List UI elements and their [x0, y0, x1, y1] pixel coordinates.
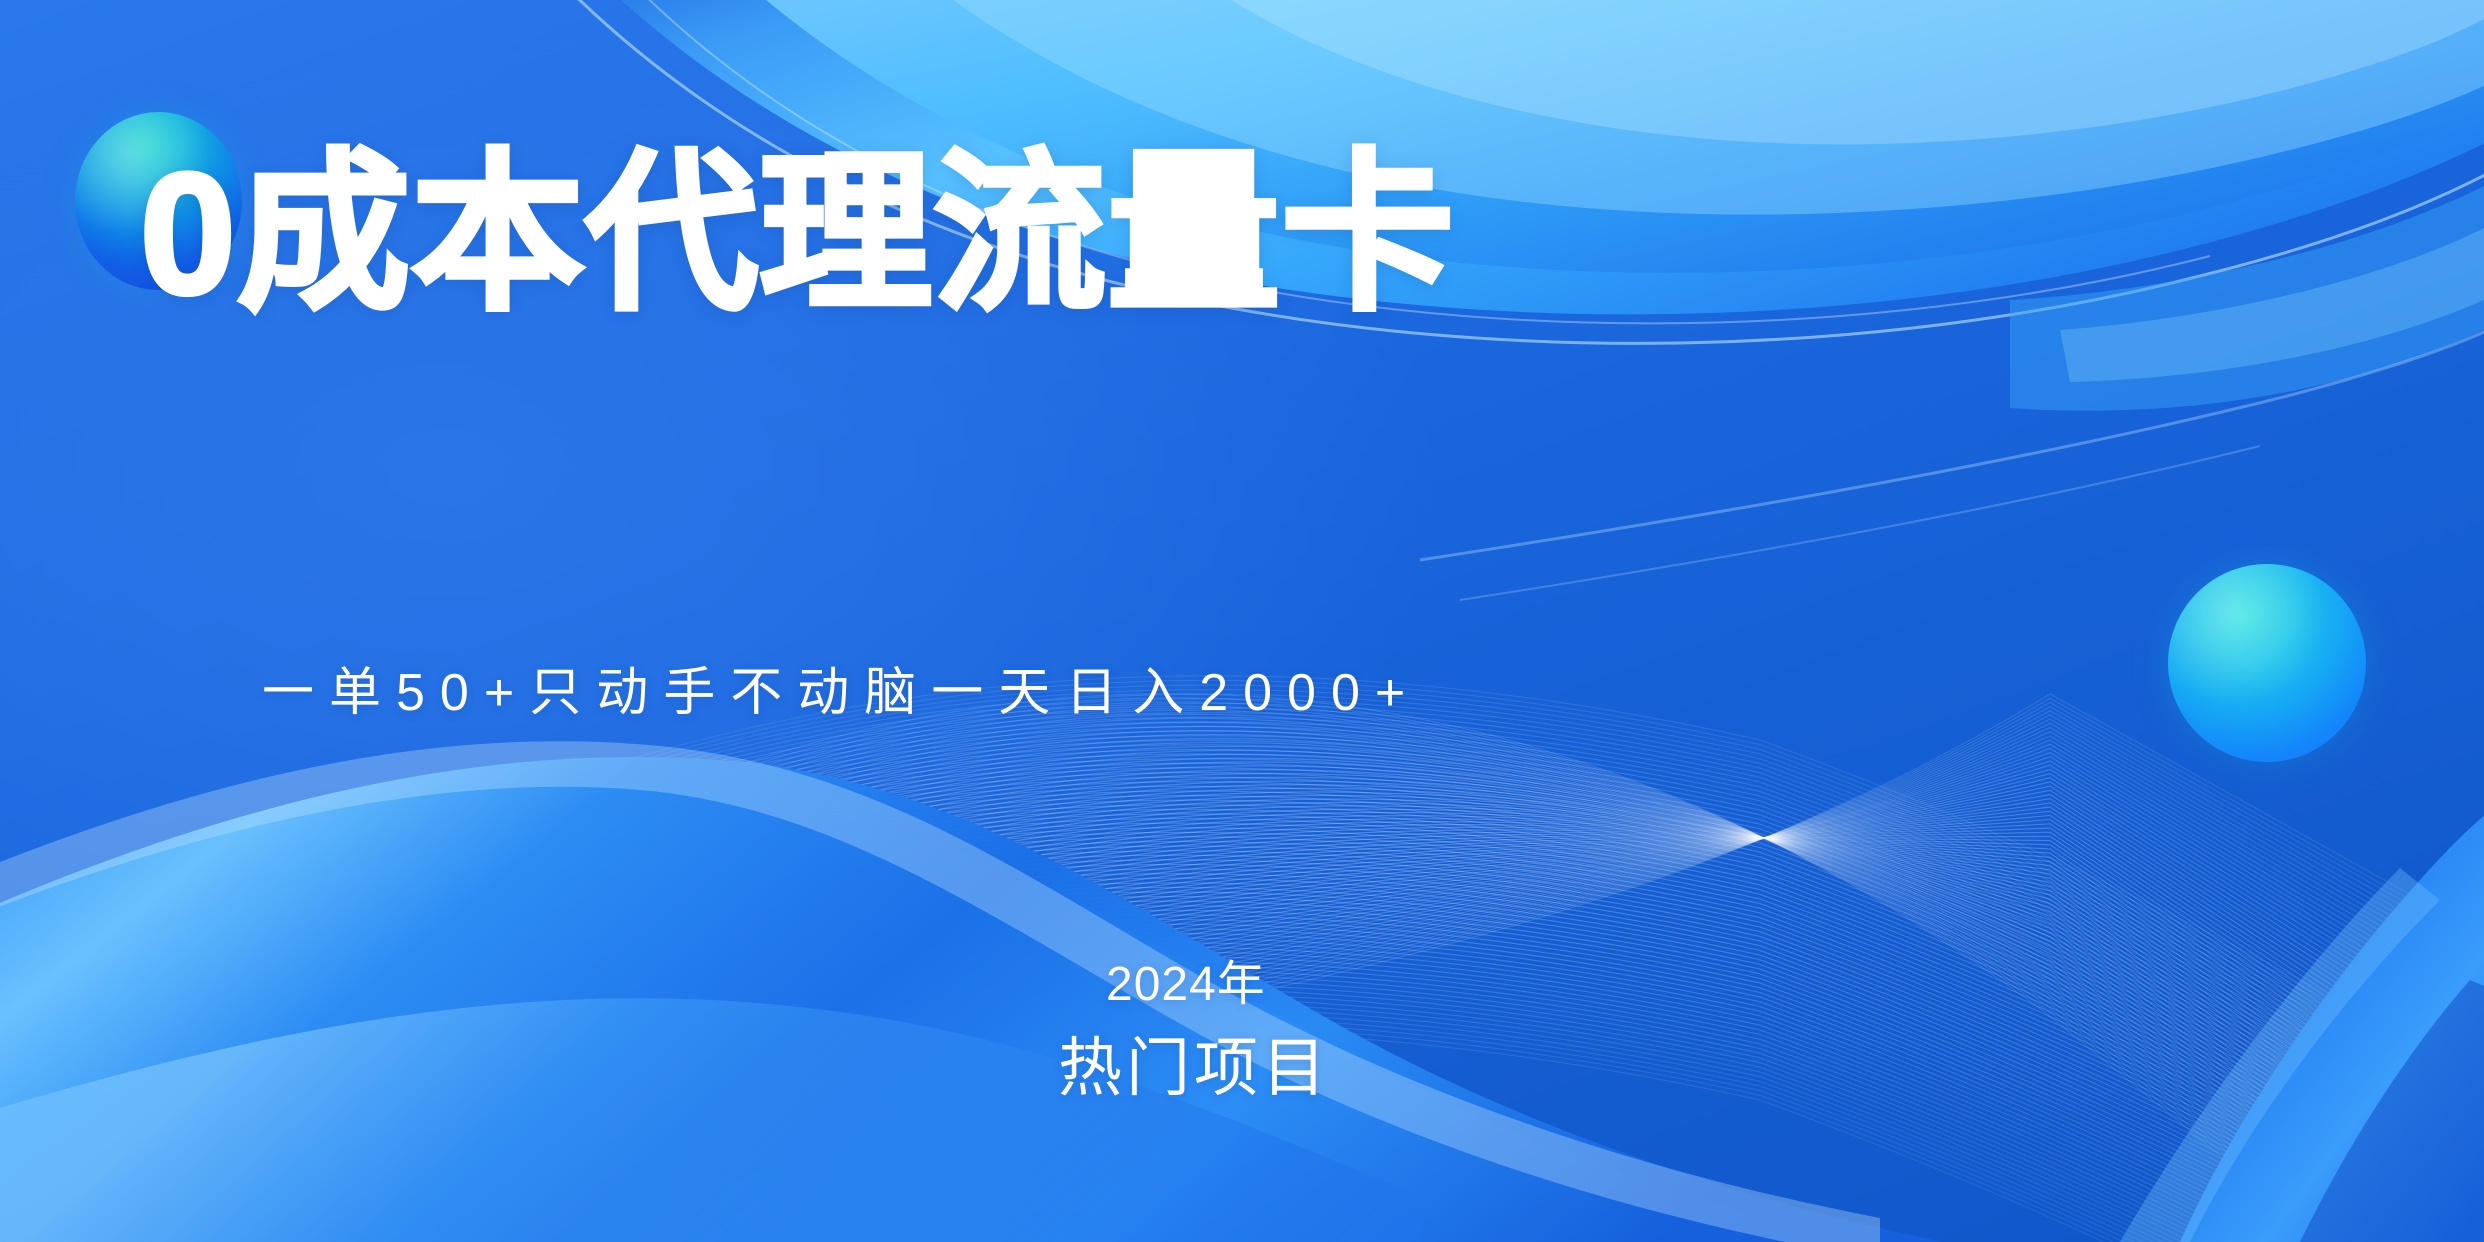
year-label: 2024年 [1106, 958, 1266, 1012]
project-label: 热门项目 [1058, 1032, 1330, 1104]
headline-block: 0成本代理流量卡 一单50+只动手不动脑一天日入2000+ 2024年 热门项目 [0, 0, 2484, 1242]
poster-canvas: 0成本代理流量卡 一单50+只动手不动脑一天日入2000+ 2024年 热门项目 [0, 0, 2484, 1242]
subtitle-text: 一单50+只动手不动脑一天日入2000+ [262, 662, 1420, 724]
page-title: 0成本代理流量卡 [140, 148, 2340, 320]
